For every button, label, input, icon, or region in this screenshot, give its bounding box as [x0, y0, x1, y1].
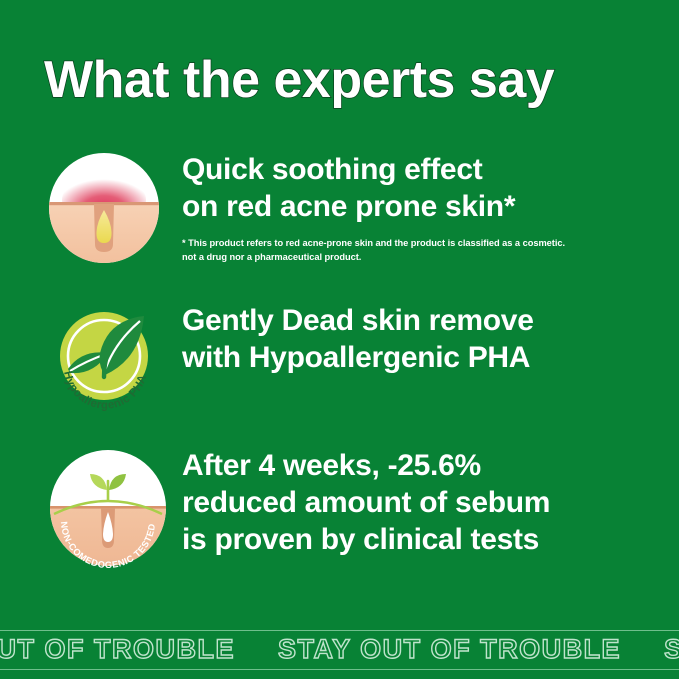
banner-rule-bottom: [0, 669, 679, 670]
banner-text-1: STAY OUT OF TROUBLE: [0, 634, 235, 664]
benefit-3-text: After 4 weeks, -25.6% reduced amount of …: [182, 448, 652, 559]
hypoallergenic-pha-badge-icon: Hypoallergenic PHA: [48, 303, 160, 415]
benefit-1-icon-wrap: [48, 152, 160, 269]
benefit-3-icon-wrap: NON-COMEDOGENIC TESTED: [48, 448, 168, 573]
bottom-marquee-banner: STAY OUT OF TROUBLE STAY OUT OF TROUBLE …: [0, 621, 679, 679]
benefit-3-headline-line1: After 4 weeks, -25.6%: [182, 448, 652, 485]
benefit-2-icon-wrap: Hypoallergenic PHA: [48, 303, 160, 420]
banner-rule-top: [0, 630, 679, 631]
benefit-1-disclaimer-line2: not a drug nor a pharmaceutical product.: [182, 251, 652, 265]
benefit-2-headline: Gently Dead skin remove with Hypoallerge…: [182, 303, 652, 377]
benefit-1-headline-line1: Quick soothing effect: [182, 152, 652, 189]
benefit-3-headline-line2: reduced amount of sebum: [182, 485, 652, 522]
benefit-1-disclaimer: * This product refers to red acne-prone …: [182, 237, 652, 265]
benefit-1-text: Quick soothing effect on red acne prone …: [182, 152, 652, 265]
benefit-1-disclaimer-line1: * This product refers to red acne-prone …: [182, 237, 652, 251]
benefit-2-text: Gently Dead skin remove with Hypoallerge…: [182, 303, 652, 377]
benefit-1-headline-line2: on red acne prone skin*: [182, 189, 652, 226]
benefit-2-headline-line2: with Hypoallergenic PHA: [182, 340, 652, 377]
page-title: What the experts say: [44, 53, 554, 108]
red-acne-skin-icon: [48, 152, 160, 264]
benefit-1-headline: Quick soothing effect on red acne prone …: [182, 152, 652, 226]
banner-text-3: STAY OUT OF TROUBLE: [664, 634, 679, 664]
poster-root: What the experts say: [0, 0, 679, 679]
non-comedogenic-tested-badge-icon: NON-COMEDOGENIC TESTED: [48, 448, 168, 568]
benefit-3-headline-line3: is proven by clinical tests: [182, 522, 652, 559]
banner-text-2: STAY OUT OF TROUBLE: [278, 634, 621, 664]
banner-marquee-text: STAY OUT OF TROUBLE STAY OUT OF TROUBLE …: [0, 634, 679, 665]
benefit-3-headline: After 4 weeks, -25.6% reduced amount of …: [182, 448, 652, 559]
benefit-2-headline-line1: Gently Dead skin remove: [182, 303, 652, 340]
